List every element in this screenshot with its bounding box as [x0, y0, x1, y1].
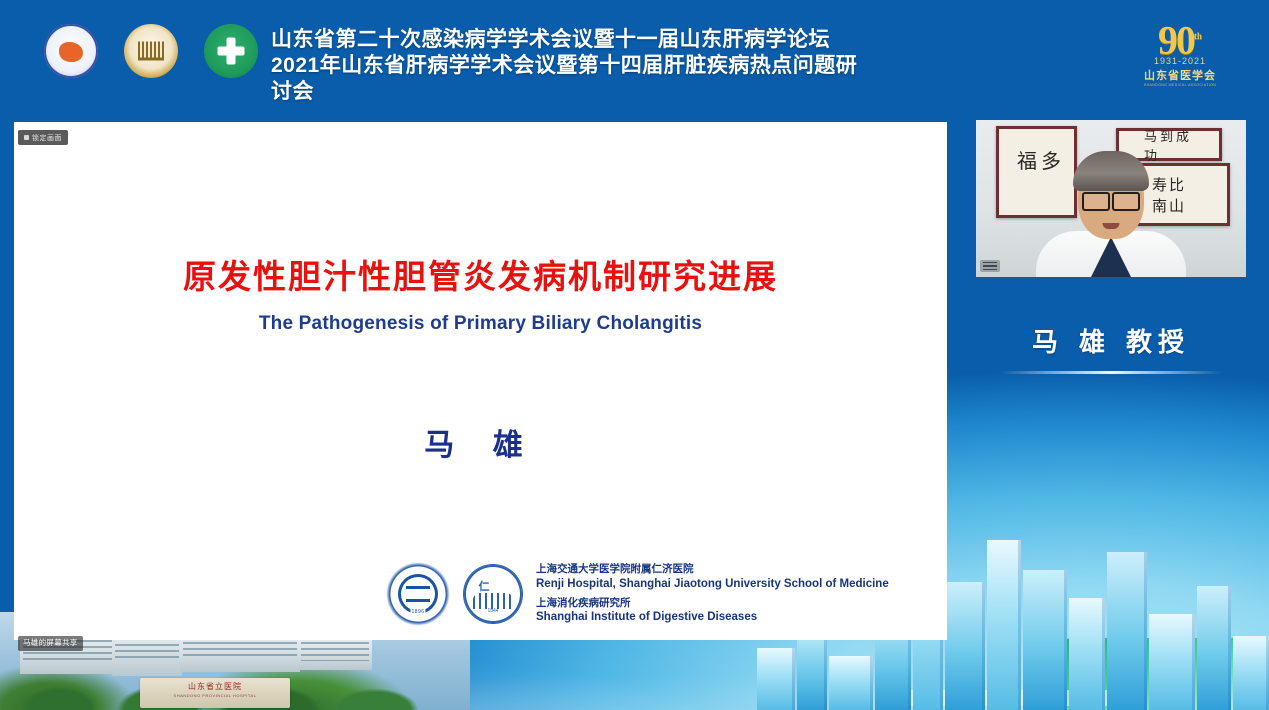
hospital-sign: 山东省立医院SHANDONG PROVINCIAL HOSPITAL: [140, 678, 290, 708]
renji-founding-year: 1844: [487, 608, 498, 614]
anniversary-superscript: th: [1194, 31, 1202, 41]
affiliation-2-zh: 上海消化疾病研究所: [536, 597, 889, 610]
conference-title-line2: 2021年山东省肝病学学术会议暨第十四届肝脏疾病热点问题研讨会: [271, 53, 871, 105]
renji-hospital-logo: 仁 济 1844: [464, 565, 522, 623]
affiliation-1-en: Renji Hospital, Shanghai Jiaotong Univer…: [536, 577, 889, 592]
affiliation-text: 上海交通大学医学院附属仁济医院 Renji Hospital, Shanghai…: [536, 563, 889, 624]
anniversary-org-en: SHANDONG MEDICAL ASSOCIATION: [1125, 83, 1235, 87]
anniversary-logo: 90th 1931-2021 山东省医学会 SHANDONG MEDICAL A…: [1125, 16, 1235, 90]
conference-title: 山东省第二十次感染病学学术会议暨十一届山东肝病学论坛 2021年山东省肝病学学术…: [271, 27, 871, 105]
slide-title-zh: 原发性胆汁性胆管炎发病机制研究进展: [14, 250, 947, 298]
conference-title-line1: 山东省第二十次感染病学学术会议暨十一届山东肝病学论坛: [271, 27, 871, 53]
screen-share-label: 马雄的屏幕共享: [18, 636, 83, 651]
conference-header: 山东省第二十次感染病学学术会议暨十一届山东肝病学论坛 2021年山东省肝病学学术…: [0, 0, 1269, 103]
calligraphy-frame-2-text: 马到成功: [1144, 126, 1194, 164]
university-emblem: [124, 24, 178, 78]
green-cross-emblem: [204, 24, 258, 78]
participant-video-tile[interactable]: 多福 马到成功 寿比南山: [976, 120, 1246, 277]
slide-speaker-name: 马 雄: [14, 420, 947, 464]
slide-title-en: The Pathogenesis of Primary Biliary Chol…: [14, 313, 947, 335]
hamburger-menu-icon[interactable]: [980, 260, 1000, 272]
renji-logo-arches: [473, 593, 513, 609]
lock-screen-badge[interactable]: 锁定画面: [18, 130, 68, 145]
anniversary-years: 1931-2021: [1125, 56, 1235, 66]
anniversary-org-zh: 山东省医学会: [1125, 67, 1235, 83]
glasses-icon: [1082, 192, 1140, 207]
header-logo-group: [44, 24, 258, 78]
shared-slide[interactable]: 原发性胆汁性胆管炎发病机制研究进展 The Pathogenesis of Pr…: [14, 122, 947, 640]
slide-affiliation-block: 1896 仁 济 1844 上海交通大学医学院附属仁济医院 Renji Hosp…: [386, 562, 889, 626]
webinar-screen: 山东省立医院SHANDONG PROVINCIAL HOSPITAL 山东省第二…: [0, 0, 1269, 710]
shandong-medical-association-emblem: [44, 24, 98, 78]
affiliation-2-en: Shanghai Institute of Digestive Diseases: [536, 610, 889, 625]
anniversary-number: 90th: [1125, 16, 1235, 60]
lock-screen-badge-label: 锁定画面: [32, 133, 62, 143]
sjtu-logo: 1896: [386, 562, 450, 626]
participant-figure: [1038, 165, 1184, 277]
participant-name-caption: 马 雄 教授: [976, 322, 1246, 359]
sjtu-founding-year: 1896: [410, 609, 425, 615]
pin-icon: [24, 135, 29, 140]
name-caption-divider: [1000, 371, 1222, 374]
affiliation-1-zh: 上海交通大学医学院附属仁济医院: [536, 563, 889, 576]
